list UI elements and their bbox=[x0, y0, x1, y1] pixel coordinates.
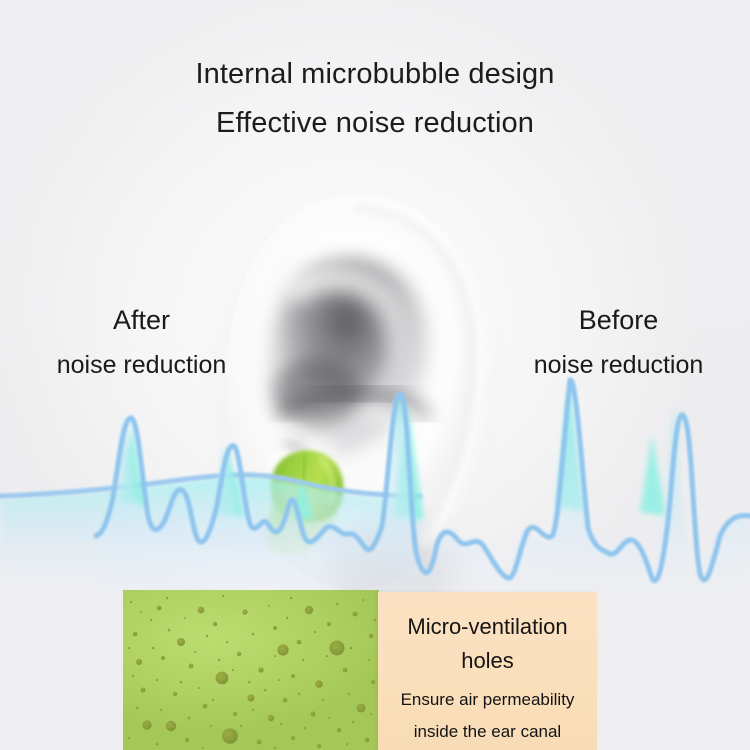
caption-subtitle: Ensure air permeability inside the ear c… bbox=[378, 684, 597, 748]
headline-line2: Effective noise reduction bbox=[0, 107, 750, 140]
caption-title: Micro-ventilation holes bbox=[378, 610, 597, 678]
label-after-subtitle: noise reduction bbox=[24, 353, 259, 378]
label-before: Before noise reduction bbox=[501, 307, 736, 378]
caption-sub-line1: Ensure air permeability bbox=[378, 684, 597, 716]
caption-title-line1: Micro-ventilation bbox=[407, 614, 567, 639]
headline-line1: Internal microbubble design bbox=[0, 58, 750, 91]
earplug-graphic bbox=[248, 434, 368, 559]
caption-panel: Micro-ventilation holes Ensure air perme… bbox=[378, 592, 597, 750]
caption-sub-line2: inside the ear canal bbox=[378, 716, 597, 748]
foam-bubbles bbox=[123, 590, 379, 750]
label-after-title: After bbox=[24, 307, 259, 334]
label-before-subtitle: noise reduction bbox=[501, 353, 736, 378]
label-after: After noise reduction bbox=[24, 307, 259, 378]
label-before-title: Before bbox=[501, 307, 736, 334]
caption-title-line2: holes bbox=[378, 644, 597, 678]
foam-texture-swatch bbox=[123, 590, 379, 750]
product-infographic: Micro-ventilation holes Ensure air perme… bbox=[0, 0, 750, 750]
